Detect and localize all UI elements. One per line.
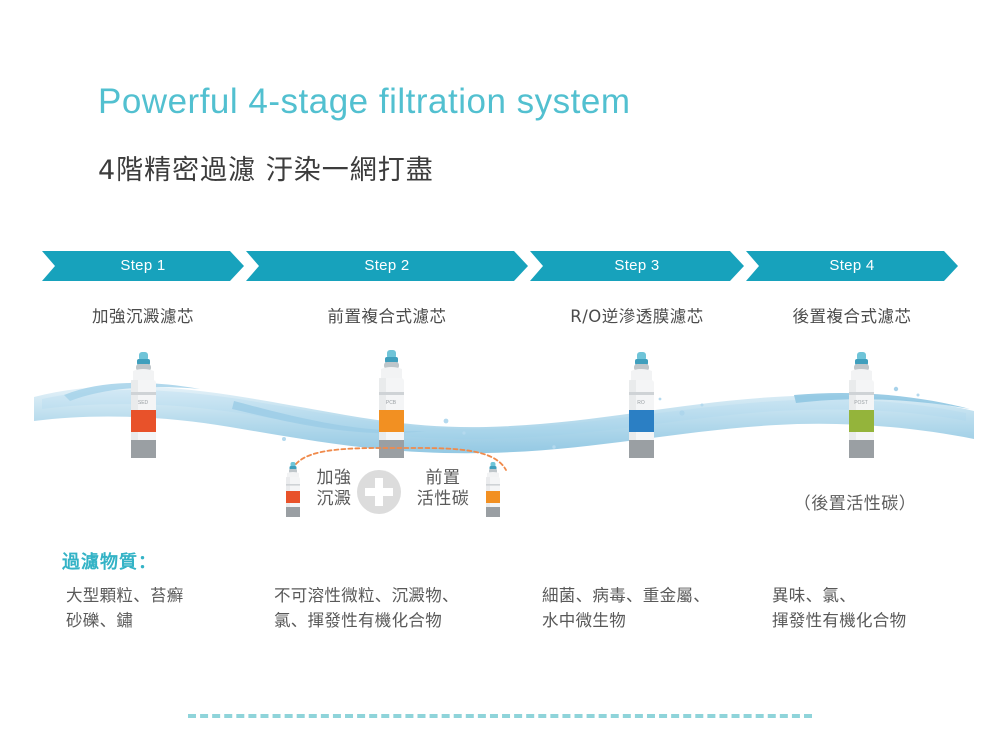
plus-icon: [357, 470, 401, 514]
step-caption-1: 加強沉澱濾芯: [42, 303, 244, 325]
page-title-english: Powerful 4-stage filtration system: [98, 82, 630, 122]
step-banner-row: Step 1 Step 2 Step 3 Step 4: [42, 251, 958, 281]
page-title-chinese: 4階精密過濾 汙染一網打盡: [98, 148, 434, 187]
water-droplet: [552, 445, 555, 448]
svg-text:SED: SED: [138, 400, 149, 406]
step2-left-label: 加強 沉澱: [308, 468, 360, 510]
cartridge-color-band-1: [131, 410, 156, 432]
connector-dashed-path: [292, 448, 506, 470]
small-cartridge-pre-carbon: [481, 462, 505, 518]
filtered-substances-col-3: 細菌、病毒、重金屬、 水中微生物: [542, 583, 762, 633]
svg-text:POST: POST: [854, 400, 868, 406]
water-droplet: [679, 410, 684, 415]
step-badge-4[interactable]: Step 4: [746, 251, 958, 281]
water-droplet: [894, 387, 898, 391]
water-droplet: [462, 431, 465, 434]
filtered-substances-label: 過濾物質：: [62, 548, 157, 574]
bottom-dashed-divider: [188, 714, 812, 718]
slide-canvas: Powerful 4-stage filtration system 4階精密過…: [0, 0, 1000, 737]
water-droplet: [701, 404, 704, 407]
step-badge-3[interactable]: Step 3: [530, 251, 744, 281]
cartridge-color-band-3: [629, 410, 654, 432]
water-droplet: [444, 419, 449, 424]
svg-text:RO: RO: [637, 400, 645, 406]
filtered-substances-col-4: 異味、氯、 揮發性有機化合物: [772, 583, 972, 633]
small-cartridge-sediment: [281, 462, 305, 518]
step-badge-2[interactable]: Step 2: [246, 251, 528, 281]
cartridge-color-band-4: [849, 410, 874, 432]
step-caption-2: 前置複合式濾芯: [246, 303, 528, 325]
step-badge-3-label: Step 3: [614, 257, 659, 274]
step-caption-4: 後置複合式濾芯: [746, 303, 958, 325]
step4-note: （後置活性碳）: [760, 489, 950, 514]
svg-text:PCB: PCB: [386, 400, 397, 406]
filter-cartridge-1: SED: [120, 352, 166, 460]
step2-right-label: 前置 活性碳: [404, 468, 482, 510]
step-badge-4-label: Step 4: [829, 257, 874, 274]
cartridge-color-band-2: [379, 410, 404, 432]
step-caption-3: R/O逆滲透膜濾芯: [530, 303, 744, 325]
step-badge-1[interactable]: Step 1: [42, 251, 244, 281]
filtered-substances-col-2: 不可溶性微粒、沉澱物、 氯、揮發性有機化合物: [274, 583, 524, 633]
filtered-substances-col-1: 大型顆粒、苔癬 砂礫、鏽: [66, 583, 266, 633]
filter-cartridge-3: RO: [618, 352, 664, 460]
filter-cartridge-4: POST: [838, 352, 884, 460]
water-droplet: [917, 394, 920, 397]
step-badge-2-label: Step 2: [364, 257, 409, 274]
step-badge-1-label: Step 1: [120, 257, 165, 274]
